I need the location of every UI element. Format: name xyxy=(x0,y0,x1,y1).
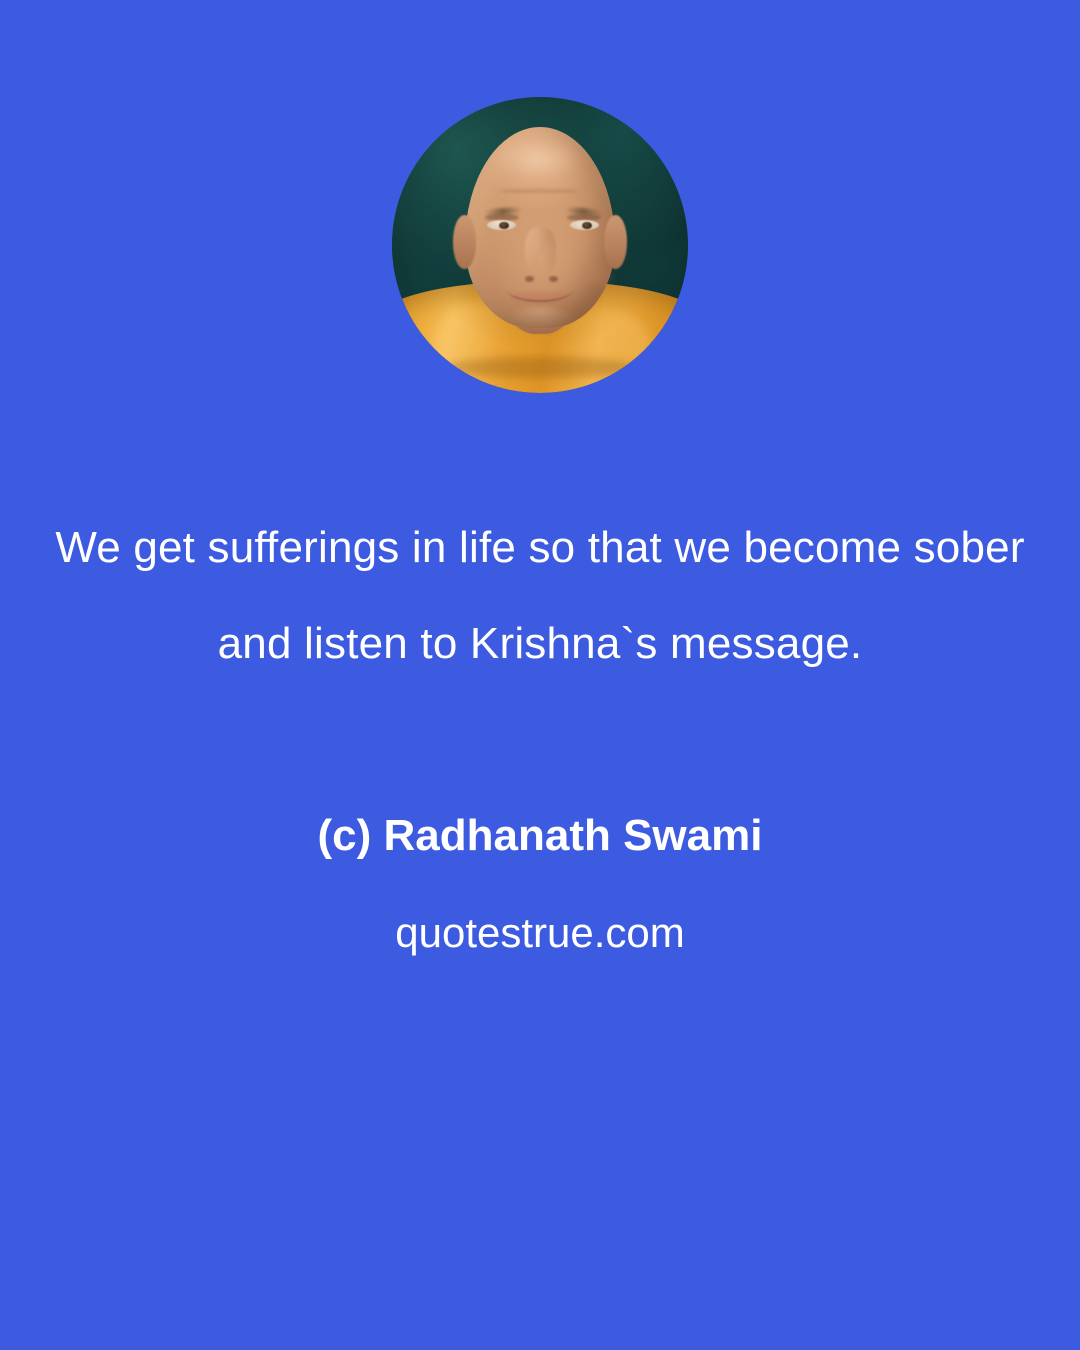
forehead-highlight xyxy=(493,138,582,179)
pupil-right xyxy=(582,222,592,230)
ear-left xyxy=(453,215,477,268)
nose-shape xyxy=(525,227,556,277)
ear-right xyxy=(604,215,628,268)
portrait-avatar-icon xyxy=(392,97,688,393)
avatar xyxy=(392,97,688,393)
robe-fold-right xyxy=(564,310,653,393)
quote-author: (c) Radhanath Swami xyxy=(0,806,1080,866)
chin-highlight xyxy=(504,307,575,331)
quote-text: We get sufferings in life so that we bec… xyxy=(0,500,1080,692)
nostril-left xyxy=(525,276,534,282)
pupil-left xyxy=(499,222,509,230)
website-label: quotestrue.com xyxy=(0,903,1080,963)
quote-card: We get sufferings in life so that we bec… xyxy=(0,0,1080,1350)
nostril-right xyxy=(549,276,558,282)
cheek-right xyxy=(579,260,617,293)
forehead-crease xyxy=(499,189,579,193)
